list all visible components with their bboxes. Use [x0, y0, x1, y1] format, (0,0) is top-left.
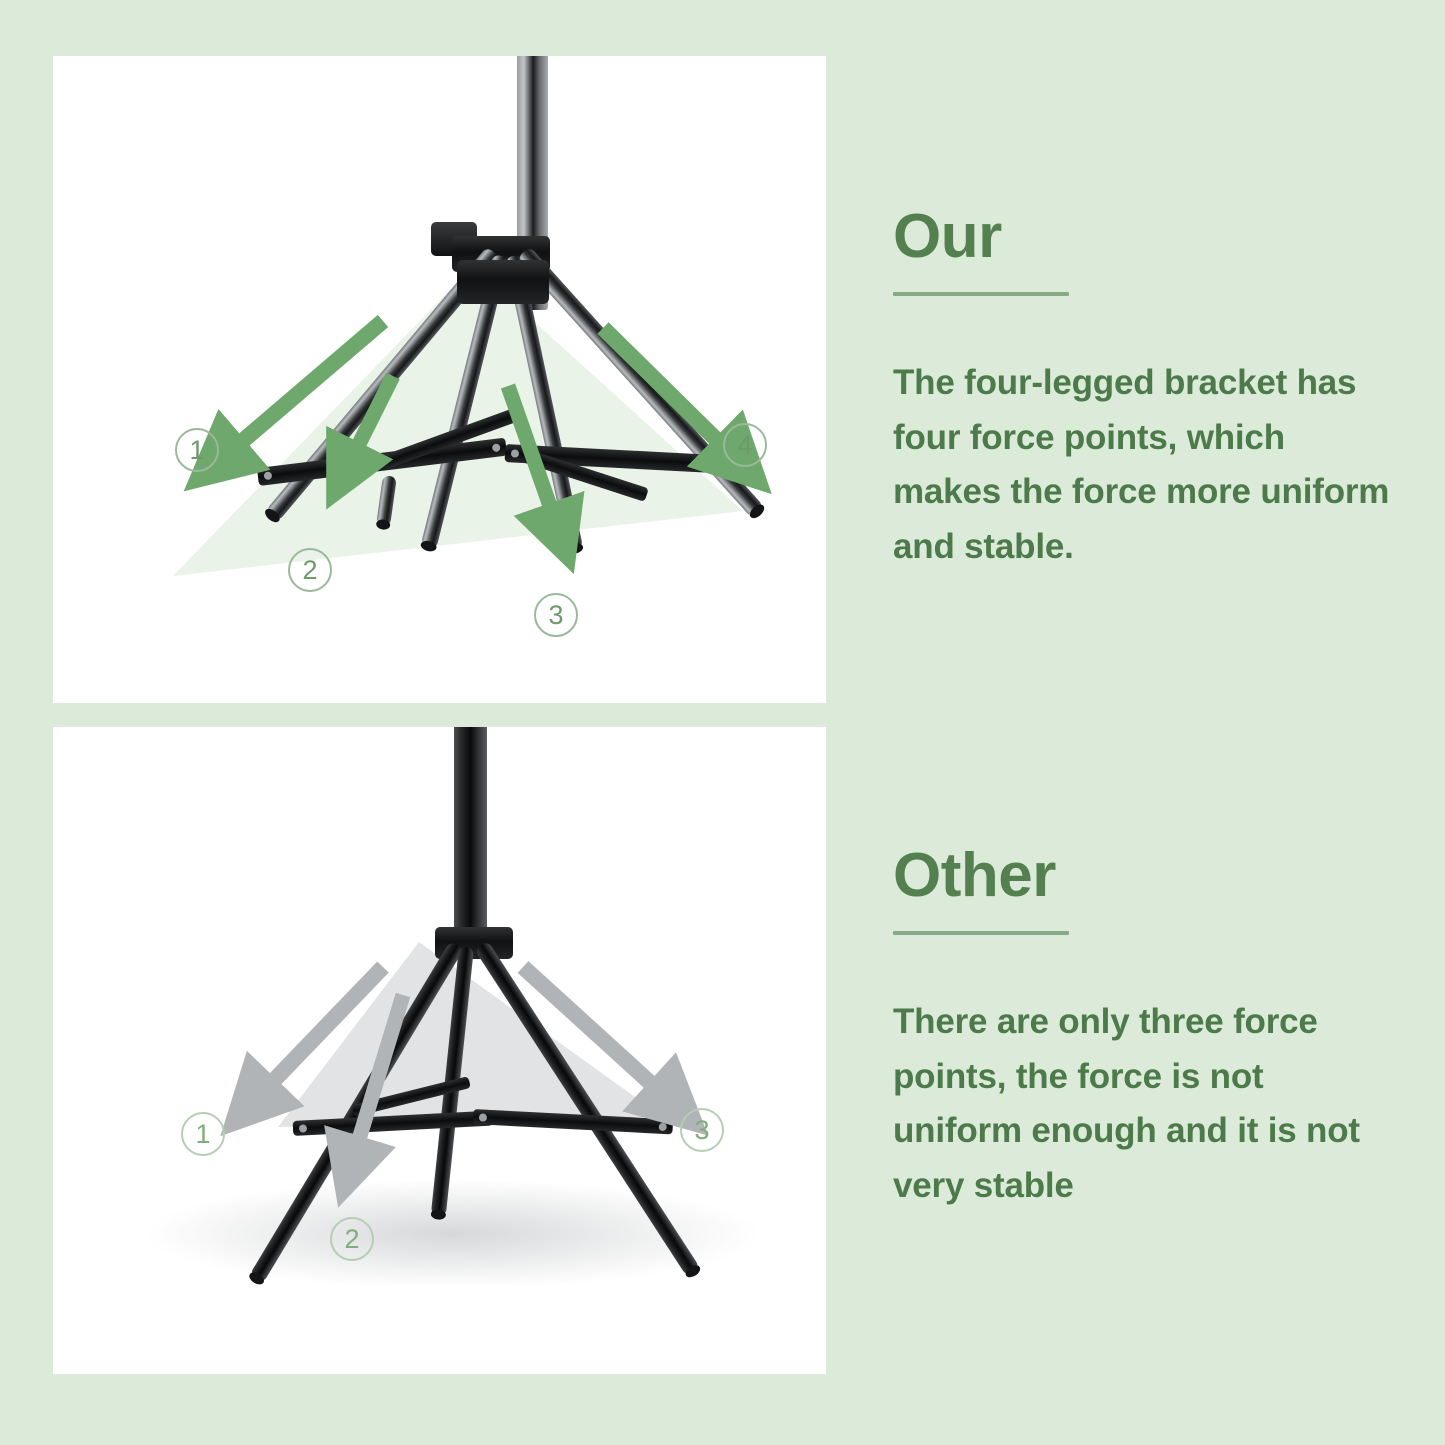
heading-other: Other: [893, 845, 1393, 907]
comparison-infographic: 1 2 3 4: [0, 0, 1445, 1445]
four-legged-tripod-stand: 1 2 3 4: [53, 56, 826, 703]
force-point-badge-2: 2: [288, 548, 332, 592]
product-photo-other: 1 2 3: [53, 727, 826, 1374]
heading-our: Our: [893, 206, 1393, 268]
force-point-badge-4: 4: [723, 423, 767, 467]
force-point-badge-3: 3: [680, 1108, 724, 1152]
arrow-2: [349, 376, 393, 464]
description-other: Other There are only three force points,…: [893, 845, 1393, 1213]
arrow-3: [508, 386, 557, 526]
three-legged-tripod-stand: 1 2 3: [53, 727, 826, 1374]
force-arrows-green: [53, 56, 826, 703]
arrow-3: [523, 967, 668, 1099]
heading-rule-our: [893, 292, 1069, 296]
force-point-badge-2: 2: [330, 1217, 374, 1261]
body-text-other: There are only three force points, the f…: [893, 995, 1393, 1213]
force-point-badge-1: 1: [181, 1112, 225, 1156]
product-photo-our: 1 2 3 4: [53, 56, 826, 703]
arrow-1: [258, 967, 383, 1097]
description-our: Our The four-legged bracket has four for…: [893, 206, 1393, 574]
force-arrows-gray: [53, 727, 826, 1374]
body-text-our: The four-legged bracket has four force p…: [893, 356, 1393, 574]
heading-rule-other: [893, 931, 1069, 935]
arrow-4: [603, 328, 733, 456]
force-point-badge-3: 3: [534, 593, 578, 637]
force-point-badge-1: 1: [175, 428, 219, 472]
arrow-2: [353, 995, 403, 1159]
